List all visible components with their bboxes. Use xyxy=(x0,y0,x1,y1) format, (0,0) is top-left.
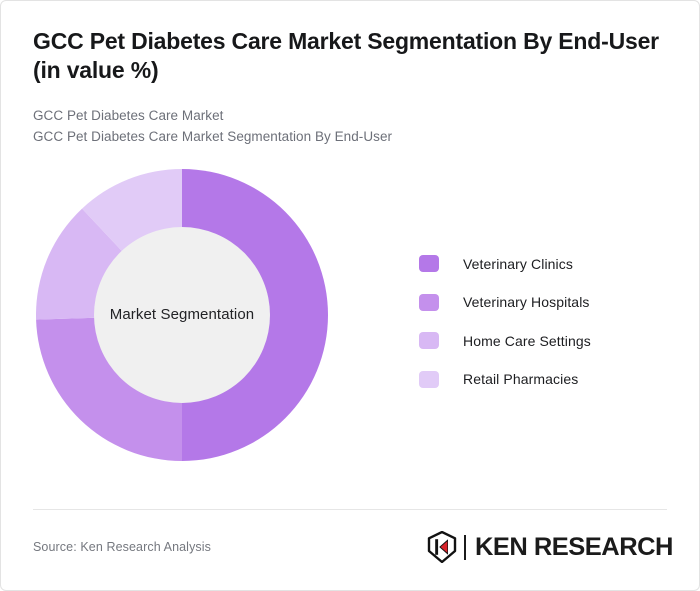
subtitle-primary: GCC Pet Diabetes Care Market xyxy=(33,106,667,127)
footer-divider xyxy=(33,509,667,510)
legend-swatch-icon xyxy=(419,294,439,311)
source-note: Source: Ken Research Analysis xyxy=(33,540,211,554)
subtitle-group: GCC Pet Diabetes Care Market GCC Pet Dia… xyxy=(33,106,667,148)
brand-separator xyxy=(464,535,466,560)
donut-hole xyxy=(94,227,270,403)
donut-chart-svg xyxy=(36,169,328,461)
brand-logo: KEN RESEARCH xyxy=(427,531,669,563)
legend-swatch-icon xyxy=(419,371,439,388)
legend-item[interactable]: Home Care Settings xyxy=(419,322,669,361)
legend-item[interactable]: Veterinary Clinics xyxy=(419,245,669,284)
legend-item-label: Retail Pharmacies xyxy=(463,371,578,387)
legend-item-label: Veterinary Clinics xyxy=(463,256,573,272)
chart-body: Market Segmentation Veterinary ClinicsVe… xyxy=(1,162,699,492)
chart-header: GCC Pet Diabetes Care Market Segmentatio… xyxy=(1,1,699,148)
page-title: GCC Pet Diabetes Care Market Segmentatio… xyxy=(33,27,667,86)
ken-research-k-hexagon-icon xyxy=(427,531,457,563)
legend-item-label: Veterinary Hospitals xyxy=(463,294,590,310)
donut-chart: Market Segmentation xyxy=(36,169,328,461)
legend-item[interactable]: Veterinary Hospitals xyxy=(419,283,669,322)
legend-swatch-icon xyxy=(419,255,439,272)
chart-card: GCC Pet Diabetes Care Market Segmentatio… xyxy=(0,0,700,591)
legend-item[interactable]: Retail Pharmacies xyxy=(419,360,669,399)
brand-name: KEN RESEARCH xyxy=(475,533,673,562)
chart-footer: Source: Ken Research Analysis KEN RESEAR… xyxy=(33,526,669,568)
subtitle-secondary: GCC Pet Diabetes Care Market Segmentatio… xyxy=(33,127,667,148)
legend-swatch-icon xyxy=(419,332,439,349)
chart-legend: Veterinary ClinicsVeterinary HospitalsHo… xyxy=(419,245,669,399)
legend-item-label: Home Care Settings xyxy=(463,333,591,349)
